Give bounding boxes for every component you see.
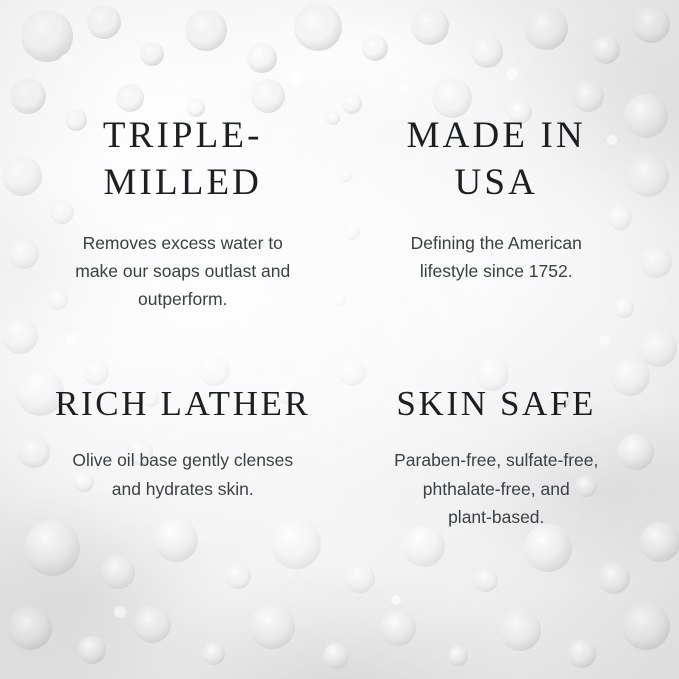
feature-headline: TRIPLE- MILLED: [103, 112, 263, 207]
feature-body: Olive oil base gently clenses and hydrat…: [72, 446, 293, 503]
feature-headline: MADE IN USA: [407, 112, 586, 207]
feature-made-in-usa: MADE IN USA Defining the American lifest…: [340, 112, 654, 348]
feature-grid: TRIPLE- MILLED Removes excess water to m…: [0, 0, 679, 679]
feature-rich-lather: RICH LATHER Olive oil base gently clense…: [26, 348, 340, 584]
feature-triple-milled: TRIPLE- MILLED Removes excess water to m…: [26, 112, 340, 348]
feature-body: Defining the American lifestyle since 17…: [411, 229, 582, 286]
feature-headline: SKIN SAFE: [396, 382, 596, 427]
product-feature-poster: TRIPLE- MILLED Removes excess water to m…: [0, 0, 679, 679]
feature-skin-safe: SKIN SAFE Paraben-free, sulfate-free, ph…: [340, 348, 654, 584]
feature-body: Removes excess water to make our soaps o…: [75, 229, 290, 314]
feature-body: Paraben-free, sulfate-free, phthalate-fr…: [394, 446, 598, 531]
feature-headline: RICH LATHER: [55, 382, 310, 427]
